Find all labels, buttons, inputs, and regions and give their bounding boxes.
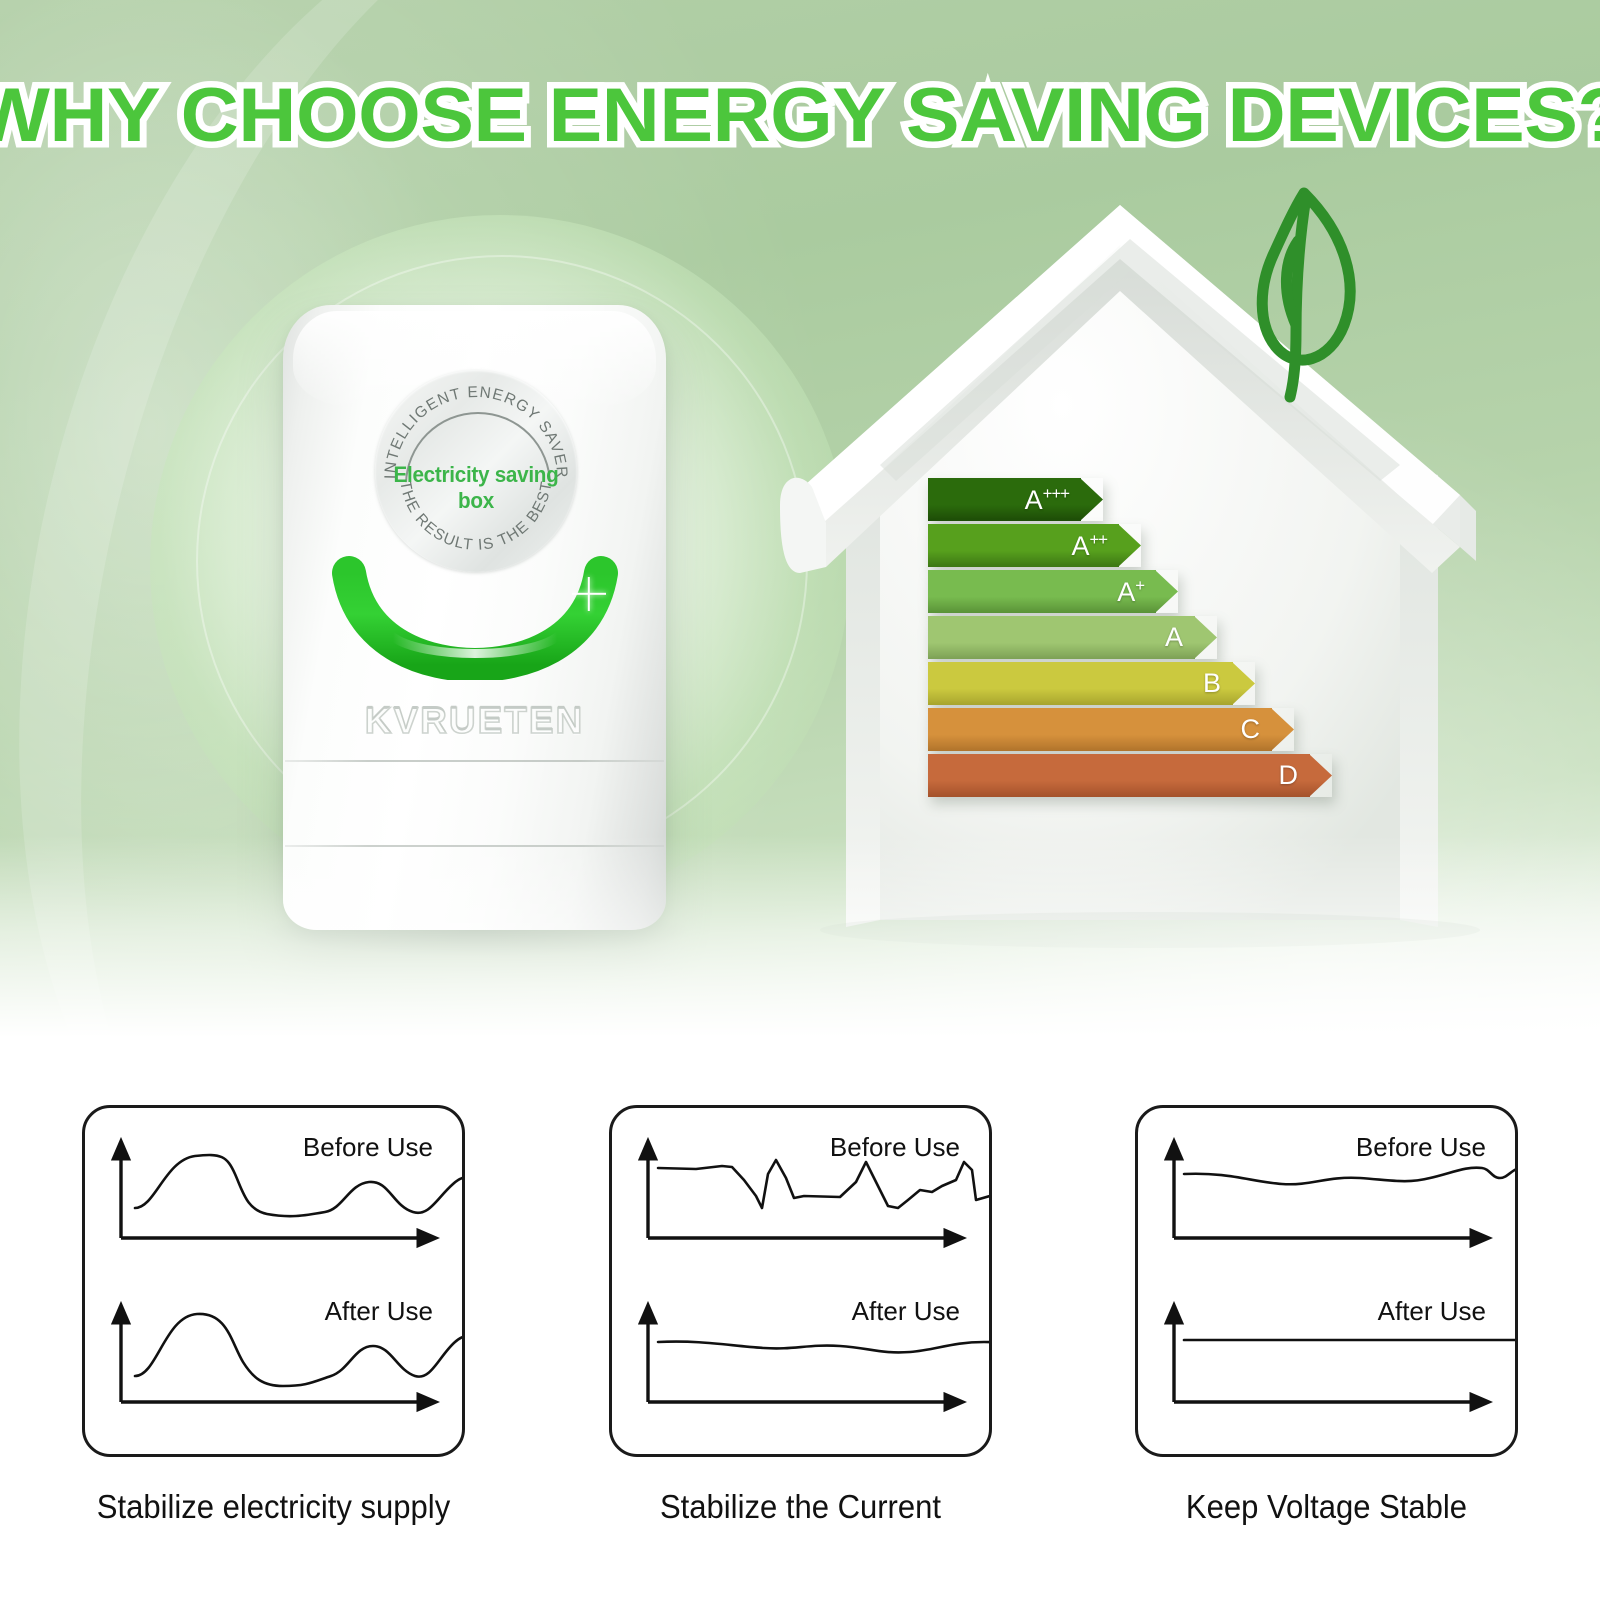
- energy-bar: A++: [928, 524, 1141, 567]
- energy-bar: A: [928, 616, 1217, 659]
- energy-bar: A+: [928, 570, 1178, 613]
- emblem-center-text: Electricity saving box: [381, 462, 571, 514]
- energy-bar-label: B: [1203, 670, 1255, 697]
- energy-bar-label: C: [1241, 716, 1295, 743]
- energy-bar-label: A: [1165, 624, 1217, 651]
- comparison-panel-row: Before UseAfter UseBefore UseAfter UseBe…: [82, 1105, 1518, 1457]
- comparison-panel: Before UseAfter Use: [1135, 1105, 1518, 1457]
- energy-bar-label: A+: [1117, 578, 1178, 606]
- comparison-panel: Before UseAfter Use: [609, 1105, 992, 1457]
- energy-bar: C: [928, 708, 1294, 751]
- svg-text:Before Use: Before Use: [829, 1132, 959, 1162]
- energy-bar: D: [928, 754, 1332, 797]
- energy-bar-body: [928, 754, 1310, 797]
- page-title: WHY CHOOSE ENERGY SAVING DEVICES?: [0, 72, 1600, 159]
- device-seam-line: [285, 845, 664, 847]
- smile-icon: [327, 555, 623, 680]
- comparison-caption: Keep Voltage Stable: [1146, 1488, 1506, 1526]
- energy-bar: A+++: [928, 478, 1103, 521]
- energy-bar-label: D: [1279, 762, 1333, 789]
- energy-rating-chart: A+++ A++ A+ A B C: [928, 478, 1332, 800]
- device-seam-line: [285, 760, 664, 762]
- svg-text:After Use: After Use: [325, 1296, 433, 1326]
- svg-text:Before Use: Before Use: [303, 1132, 433, 1162]
- energy-bar: B: [928, 662, 1255, 705]
- energy-saver-device: INTELLIGENT ENERGY SAVER THE RESULT IS T…: [283, 305, 666, 930]
- energy-bar-body: [928, 662, 1233, 705]
- svg-text:After Use: After Use: [851, 1296, 959, 1326]
- svg-text:Before Use: Before Use: [1356, 1132, 1486, 1162]
- energy-bar-body: [928, 616, 1195, 659]
- device-brand-text: KVRUETEN: [283, 700, 666, 742]
- hero-section: A+++ A++ A+ A B C: [0, 0, 1600, 1065]
- svg-text:After Use: After Use: [1378, 1296, 1486, 1326]
- product-infographic: A+++ A++ A+ A B C: [0, 0, 1600, 1600]
- energy-bar-body: [928, 708, 1272, 751]
- device-emblem: INTELLIGENT ENERGY SAVER THE RESULT IS T…: [375, 370, 577, 572]
- smile-sparkle-icon: [572, 577, 606, 611]
- comparison-caption-row: Stabilize electricity supplyStabilize th…: [82, 1488, 1518, 1526]
- energy-bar-label: A++: [1071, 532, 1141, 560]
- comparison-caption: Stabilize the Current: [620, 1488, 980, 1526]
- comparison-caption: Stabilize electricity supply: [93, 1488, 453, 1526]
- comparison-panel: Before UseAfter Use: [82, 1105, 465, 1457]
- energy-bar-label: A+++: [1025, 486, 1103, 514]
